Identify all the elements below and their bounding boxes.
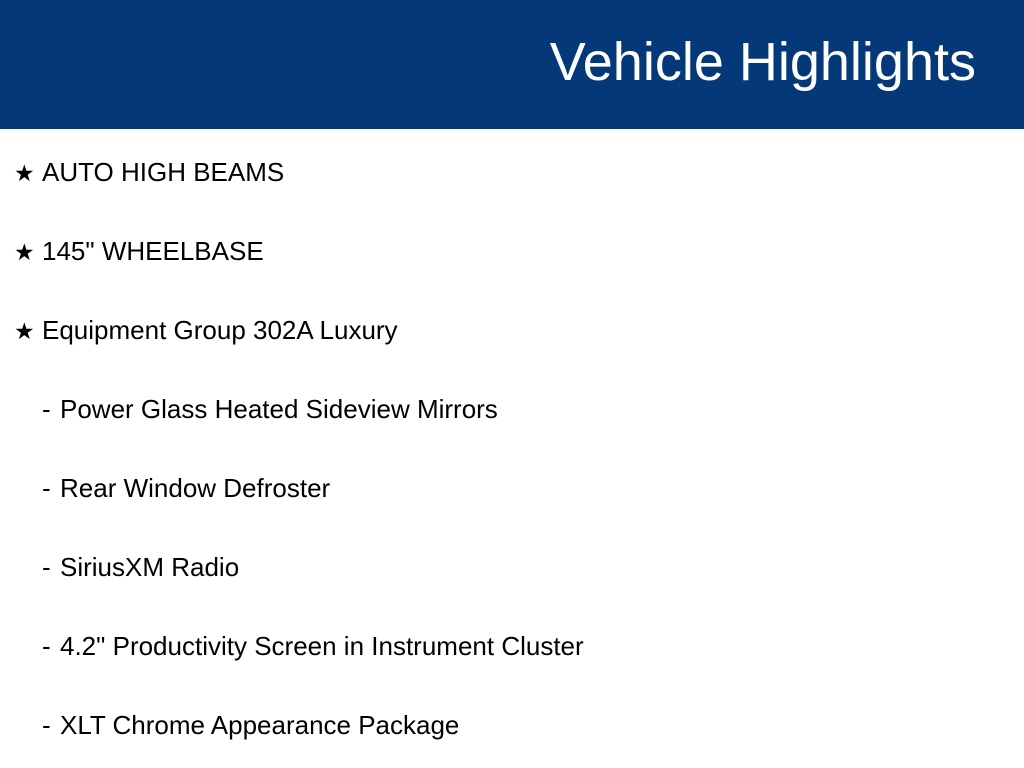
dash-bullet-icon: - <box>42 633 60 659</box>
list-item-inner: ★Equipment Group 302A Luxury <box>14 287 398 344</box>
list-item: ★Equipment Group 302A Luxury <box>0 287 1024 366</box>
star-bullet-icon: ★ <box>14 163 42 186</box>
dash-bullet-icon: - <box>42 712 60 738</box>
list-item-inner: -Power Glass Heated Sideview Mirrors <box>42 366 498 422</box>
list-item: -Rear Window Defroster <box>0 445 1024 524</box>
list-item-label: 4.2" Productivity Screen in Instrument C… <box>60 633 584 659</box>
vehicle-highlights-list: ★AUTO HIGH BEAMS★145" WHEELBASE★Equipmen… <box>0 129 1024 761</box>
list-item-inner: ★AUTO HIGH BEAMS <box>14 129 284 186</box>
star-bullet-icon: ★ <box>14 242 42 265</box>
dash-bullet-icon: - <box>42 396 60 422</box>
list-item-label: Equipment Group 302A Luxury <box>42 317 398 343</box>
list-item: ★145" WHEELBASE <box>0 208 1024 287</box>
page-title: Vehicle Highlights <box>550 34 976 91</box>
list-item-label: XLT Chrome Appearance Package <box>60 712 459 738</box>
list-item-inner: ★145" WHEELBASE <box>14 208 264 265</box>
list-item-label: Rear Window Defroster <box>60 475 330 501</box>
list-item: -4.2" Productivity Screen in Instrument … <box>0 603 1024 682</box>
list-item: -XLT Chrome Appearance Package <box>0 682 1024 761</box>
dash-bullet-icon: - <box>42 554 60 580</box>
list-item-label: Power Glass Heated Sideview Mirrors <box>60 396 498 422</box>
list-item: ★AUTO HIGH BEAMS <box>0 129 1024 208</box>
vehicle-highlights-slide: Vehicle Highlights ★AUTO HIGH BEAMS★145"… <box>0 0 1024 768</box>
list-item-label: 145" WHEELBASE <box>42 238 264 264</box>
star-bullet-icon: ★ <box>14 321 42 344</box>
list-item-inner: -4.2" Productivity Screen in Instrument … <box>42 603 584 659</box>
header-banner: Vehicle Highlights <box>0 0 1024 129</box>
list-item: -SiriusXM Radio <box>0 524 1024 603</box>
list-item-inner: -XLT Chrome Appearance Package <box>42 682 459 738</box>
list-item-label: AUTO HIGH BEAMS <box>42 159 284 185</box>
list-item-inner: -Rear Window Defroster <box>42 445 330 501</box>
dash-bullet-icon: - <box>42 475 60 501</box>
list-item-inner: -SiriusXM Radio <box>42 524 239 580</box>
list-item: -Power Glass Heated Sideview Mirrors <box>0 366 1024 445</box>
list-item-label: SiriusXM Radio <box>60 554 239 580</box>
